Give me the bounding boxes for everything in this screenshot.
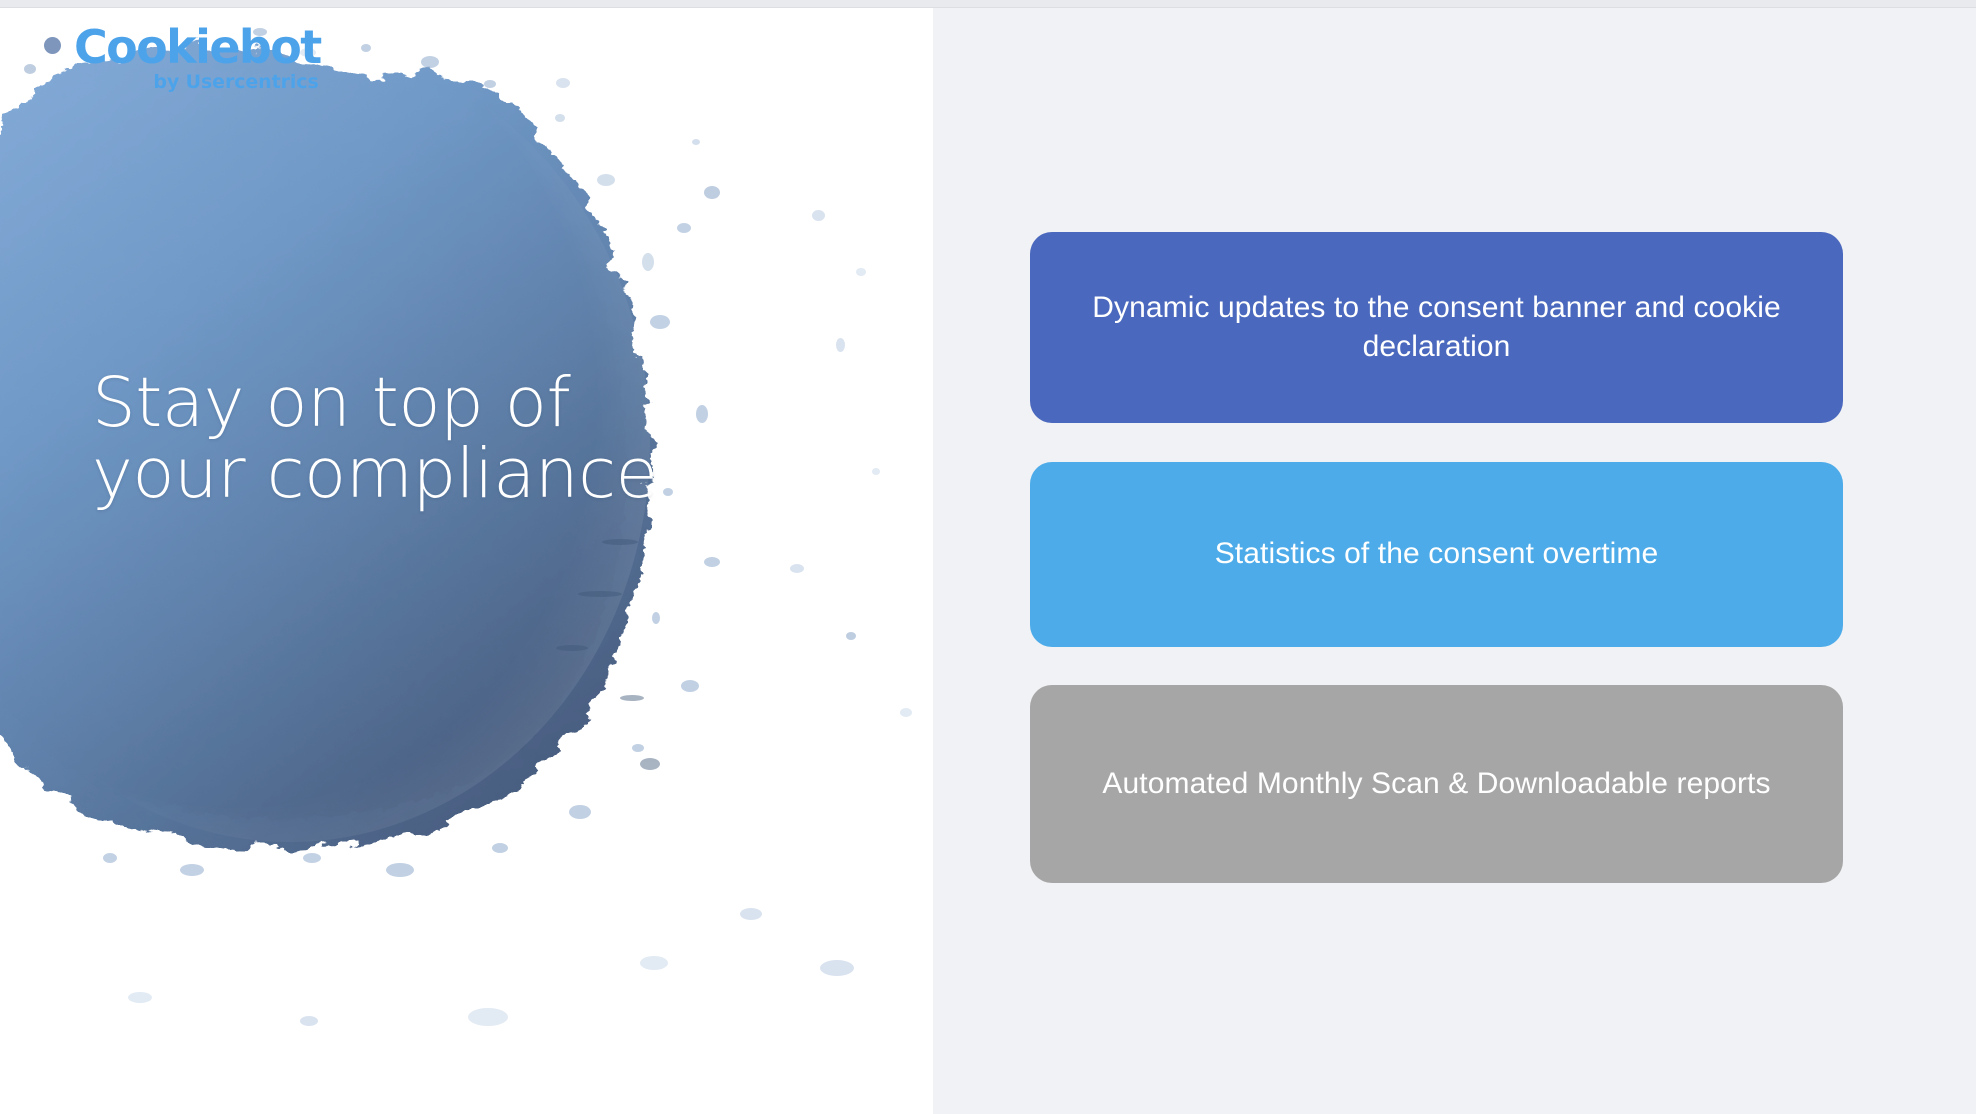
splatter-dot	[24, 64, 36, 74]
feature-card-list: Dynamic updates to the consent banner an…	[1030, 232, 1843, 883]
splatter-dot	[740, 908, 762, 920]
window-chrome-strip	[0, 0, 1976, 8]
splatter-dot	[704, 186, 720, 199]
splatter-dot	[300, 1016, 318, 1026]
splatter-dot	[640, 956, 668, 970]
feature-card-label: Dynamic updates to the consent banner an…	[1076, 289, 1797, 366]
splatter-dot	[820, 960, 854, 976]
hero-headline: Stay on top of your compliance	[92, 368, 658, 510]
logo-wordmark-row: Cookiebot	[44, 24, 321, 70]
cookiebot-logo[interactable]: Cookiebot by Usercentrics	[44, 24, 321, 92]
headline-line-2: your compliance	[92, 439, 658, 510]
features-panel: Dynamic updates to the consent banner an…	[933, 8, 1976, 1114]
splatter-dot	[468, 1008, 508, 1026]
splatter-dot	[846, 632, 856, 640]
feature-card-automated-scan-reports[interactable]: Automated Monthly Scan & Downloadable re…	[1030, 685, 1843, 883]
logo-subtitle: by Usercentrics	[153, 73, 318, 92]
splatter-dot	[872, 468, 880, 475]
splatter-dot	[836, 338, 845, 352]
logo-dot-icon	[44, 37, 61, 54]
feature-card-dynamic-updates[interactable]: Dynamic updates to the consent banner an…	[1030, 232, 1843, 423]
logo-wordmark: Cookiebot	[74, 24, 321, 70]
headline-line-1: Stay on top of	[92, 368, 658, 439]
hero-panel: Cookiebot by Usercentrics Stay on top of…	[0, 8, 933, 1114]
feature-card-label: Automated Monthly Scan & Downloadable re…	[1102, 765, 1770, 803]
splatter-dot	[856, 268, 866, 276]
splatter-dot	[128, 992, 152, 1003]
feature-card-label: Statistics of the consent overtime	[1215, 535, 1659, 573]
splatter-dot	[812, 210, 825, 221]
splatter-dot	[900, 708, 912, 717]
splatter-dot	[790, 564, 804, 573]
feature-card-consent-statistics[interactable]: Statistics of the consent overtime	[1030, 462, 1843, 647]
splatter-dot	[556, 78, 570, 88]
slide-root: Cookiebot by Usercentrics Stay on top of…	[0, 0, 1976, 1114]
